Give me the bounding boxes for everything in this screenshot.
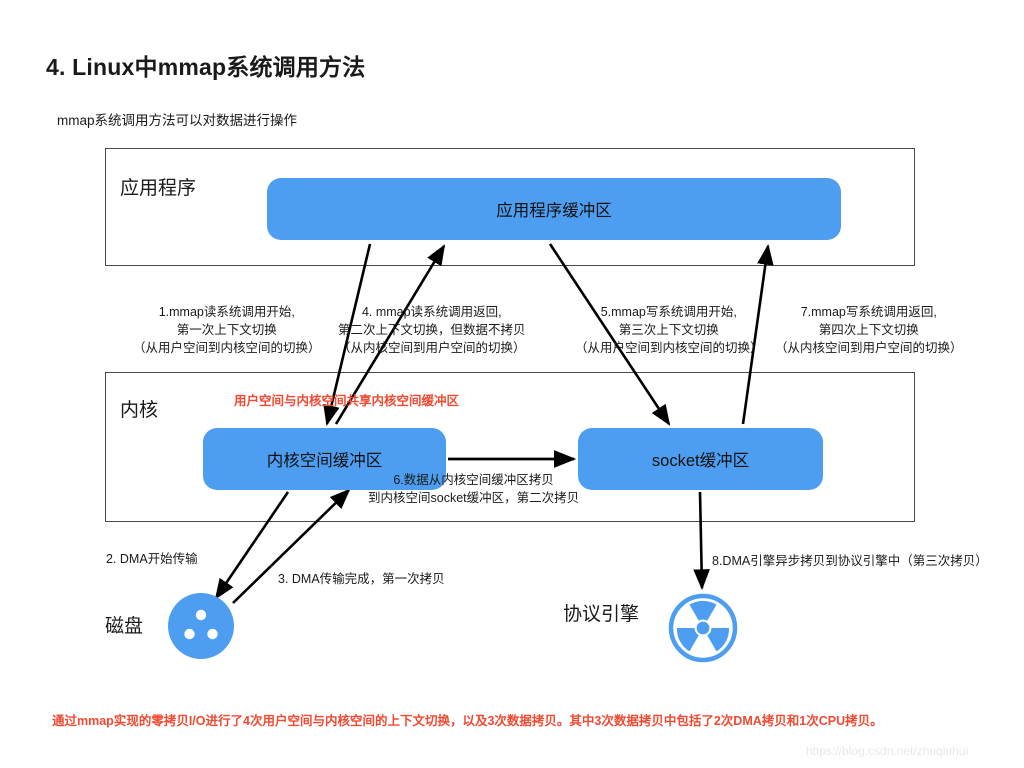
page-title: 4. Linux中mmap系统调用方法	[46, 48, 365, 82]
application-buffer-box[interactable]: 应用程序缓冲区	[267, 178, 841, 240]
step-note-3: 3. DMA传输完成，第一次拷贝	[278, 570, 445, 588]
step-note-4-line3: （从内核空间到用户空间的切换）	[338, 339, 526, 357]
step-note-6: 6.数据从内核空间缓冲区拷贝 到内核空间socket缓冲区，第二次拷贝	[368, 471, 579, 507]
radiation-icon	[668, 593, 738, 663]
kernel-layer-label: 内核	[120, 395, 158, 422]
step-note-7-line3: （从内核空间到用户空间的切换）	[775, 339, 963, 357]
step-note-7: 7.mmap写系统调用返回, 第四次上下文切换 （从内核空间到用户空间的切换）	[775, 303, 963, 357]
step-note-1-line1: 1.mmap读系统调用开始,	[133, 303, 321, 321]
step-note-8: 8.DMA引擎异步拷贝到协议引擎中（第三次拷贝）	[712, 552, 988, 570]
step-note-4-line2: 第二次上下文切换，但数据不拷贝	[338, 321, 526, 339]
step-note-7-line2: 第四次上下文切换	[775, 321, 963, 339]
step-note-3-line1: 3. DMA传输完成，第一次拷贝	[278, 570, 445, 588]
step-note-6-line2: 到内核空间socket缓冲区，第二次拷贝	[368, 489, 579, 507]
protocol-engine-label: 协议引擎	[563, 599, 639, 626]
shared-memory-note: 用户空间与内核空间共享内核空间缓冲区	[234, 390, 459, 409]
watermark: https://blog.csdn.net/zhuqiuhui	[806, 744, 968, 758]
step-note-1: 1.mmap读系统调用开始, 第一次上下文切换 （从用户空间到内核空间的切换）	[133, 303, 321, 357]
step-note-5-line1: 5.mmap写系统调用开始,	[575, 303, 763, 321]
socket-buffer-box[interactable]: socket缓冲区	[578, 428, 823, 490]
step-note-5: 5.mmap写系统调用开始, 第三次上下文切换 （从用户空间到内核空间的切换）	[575, 303, 763, 357]
step-note-5-line3: （从用户空间到内核空间的切换）	[575, 339, 763, 357]
disk-label: 磁盘	[105, 611, 143, 638]
step-note-2: 2. DMA开始传输	[106, 550, 198, 568]
step-note-4: 4. mmap读系统调用返回, 第二次上下文切换，但数据不拷贝 （从内核空间到用…	[338, 303, 526, 357]
step-note-6-line1: 6.数据从内核空间缓冲区拷贝	[368, 471, 579, 489]
step-note-5-line2: 第三次上下文切换	[575, 321, 763, 339]
disk-circle-icon	[168, 593, 234, 659]
diagram-canvas: 4. Linux中mmap系统调用方法 mmap系统调用方法可以对数据进行操作 …	[0, 0, 1024, 768]
summary-note: 通过mmap实现的零拷贝I/O进行了4次用户空间与内核空间的上下文切换，以及3次…	[52, 710, 883, 729]
step-note-7-line1: 7.mmap写系统调用返回,	[775, 303, 963, 321]
step-note-1-line2: 第一次上下文切换	[133, 321, 321, 339]
step-note-2-line1: 2. DMA开始传输	[106, 550, 198, 568]
application-layer-label: 应用程序	[120, 173, 196, 200]
step-note-1-line3: （从用户空间到内核空间的切换）	[133, 339, 321, 357]
step-note-8-line1: 8.DMA引擎异步拷贝到协议引擎中（第三次拷贝）	[712, 552, 988, 570]
page-subtitle: mmap系统调用方法可以对数据进行操作	[57, 109, 297, 129]
step-note-4-line1: 4. mmap读系统调用返回,	[338, 303, 526, 321]
